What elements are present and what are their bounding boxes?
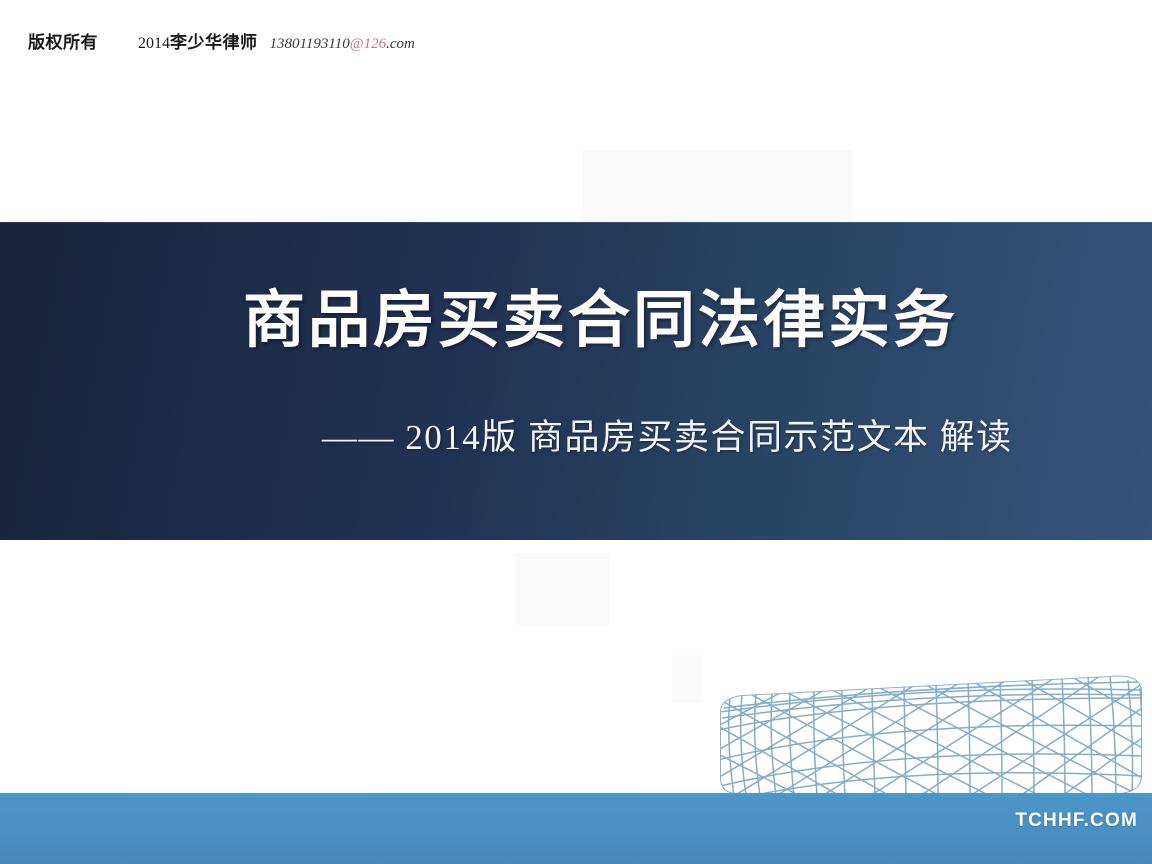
background-watermark-band-lower <box>515 553 610 625</box>
copyright-header: 版权所有 2014 李少华律师 13801193110@126.com <box>0 28 1152 60</box>
slide-title: 商品房买卖合同法律实务 <box>243 290 958 352</box>
copyright-label: 版权所有 <box>28 28 98 53</box>
email-domain-part: @126 <box>350 36 386 52</box>
author-name: 李少华律师 <box>170 28 258 53</box>
email-user-part: 13801193110 <box>270 36 350 52</box>
site-logo: TCHHF.COM <box>1015 810 1138 832</box>
email-tld-part: .com <box>386 36 415 52</box>
slide-subtitle: —— 2014版 商品房买卖合同示范文本 解读 <box>322 420 1013 455</box>
presentation-slide: 版权所有 2014 李少华律师 13801193110@126.com 商品房买… <box>0 0 1152 864</box>
footer-bar: TCHHF.COM <box>0 793 1152 864</box>
author-email: 13801193110@126.com <box>270 36 415 53</box>
title-banner: 商品房买卖合同法律实务 —— 2014版 商品房买卖合同示范文本 解读 <box>0 222 1152 540</box>
copyright-year: 2014 <box>138 35 170 53</box>
birds-nest-stadium-icon <box>690 668 1152 804</box>
